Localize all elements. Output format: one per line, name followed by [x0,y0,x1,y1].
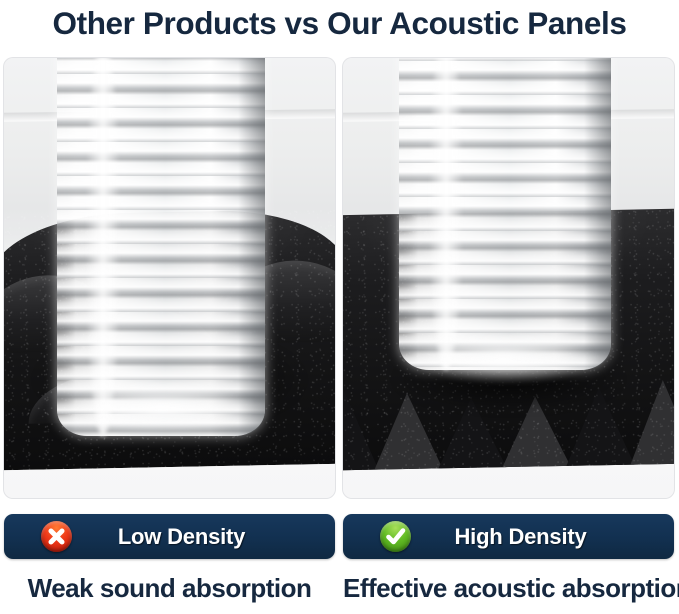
bottle-shading [584,58,612,370]
bottle-highlight [86,58,119,436]
foam-pyramid [343,388,378,471]
photo-high-density-scene [343,58,674,498]
bottle-base-glow [413,331,598,384]
photo-low-density [4,58,335,498]
comparison-columns: Low Density Weak sound absorption [0,58,679,604]
foam-pyramid [629,380,674,465]
badge-label-high-density: High Density [411,524,630,550]
cross-circle-icon [41,521,72,552]
bottle-shading [238,58,265,436]
comparison-infographic: Other Products vs Our Acoustic Panels [0,0,679,614]
photo-high-density [343,58,674,498]
foam-pyramid [373,393,442,470]
water-bottle [399,58,611,370]
badge-low-density[interactable]: Low Density [4,514,335,559]
photo-low-density-scene [4,58,335,498]
badge-high-density[interactable]: High Density [343,514,674,559]
badge-label-low-density: Low Density [72,524,291,550]
bottle-base-glow [70,379,255,436]
page-title: Other Products vs Our Acoustic Panels [0,0,679,52]
panel-other-products: Low Density Weak sound absorption [4,58,335,604]
panel-our-acoustic-panels: High Density Effective acoustic absorpti… [343,58,674,604]
caption-effective-absorption: Effective acoustic absorption [343,573,674,604]
caption-weak-absorption: Weak sound absorption [4,573,335,604]
check-circle-icon [380,521,411,552]
